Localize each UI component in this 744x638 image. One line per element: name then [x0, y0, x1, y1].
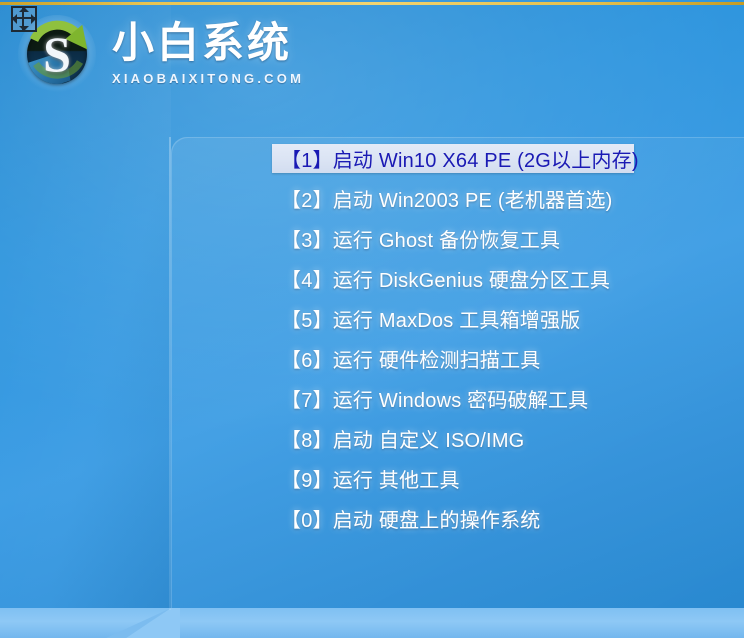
- menu-item-label: 启动 硬盘上的操作系统: [333, 504, 541, 533]
- menu-item-label: 启动 Win10 X64 PE (2G以上内存): [333, 144, 639, 173]
- move-cursor-arrow-down: [19, 26, 29, 31]
- menu-item-key: 【2】: [281, 184, 333, 213]
- menu-item-other-tools[interactable]: 【9】运行 其他工具: [272, 464, 634, 493]
- menu-item-key: 【3】: [281, 224, 333, 253]
- brand-subtitle: XIAOBAIXITONG.COM: [112, 71, 304, 86]
- top-accent-rule: [0, 2, 744, 5]
- menu-item-hardware-scan[interactable]: 【6】运行 硬件检测扫描工具: [272, 344, 634, 373]
- menu-item-label: 运行 MaxDos 工具箱增强版: [333, 304, 581, 333]
- menu-item-label: 启动 自定义 ISO/IMG: [333, 424, 525, 453]
- menu-item-key: 【6】: [281, 344, 333, 373]
- brand-title: 小白系统: [112, 22, 304, 64]
- boot-menu-list[interactable]: 【1】启动 Win10 X64 PE (2G以上内存)【2】启动 Win2003…: [272, 144, 634, 544]
- brand-logo: S 小白系统 XIAOBAIXITONG.COM: [12, 8, 332, 100]
- boot-menu-screen: S 小白系统 XIAOBAIXITONG.COM 【1】启动 Win10 X64…: [0, 0, 744, 638]
- menu-item-win10-x64-pe[interactable]: 【1】启动 Win10 X64 PE (2G以上内存): [272, 144, 634, 173]
- menu-item-label: 启动 Win2003 PE (老机器首选): [333, 184, 613, 213]
- menu-item-label: 运行 Ghost 备份恢复工具: [333, 224, 560, 253]
- menu-item-key: 【0】: [281, 504, 333, 533]
- menu-item-key: 【7】: [281, 384, 333, 413]
- menu-item-diskgenius[interactable]: 【4】运行 DiskGenius 硬盘分区工具: [272, 264, 634, 293]
- floor-wedge: [0, 600, 180, 638]
- menu-item-label: 运行 其他工具: [333, 464, 460, 493]
- menu-item-key: 【5】: [281, 304, 333, 333]
- menu-item-ghost[interactable]: 【3】运行 Ghost 备份恢复工具: [272, 224, 634, 253]
- menu-item-win2003-pe[interactable]: 【2】启动 Win2003 PE (老机器首选): [272, 184, 634, 213]
- menu-item-custom-iso-img[interactable]: 【8】启动 自定义 ISO/IMG: [272, 424, 634, 453]
- menu-item-key: 【9】: [281, 464, 333, 493]
- panel-seam: [169, 137, 171, 610]
- menu-item-password-crack[interactable]: 【7】运行 Windows 密码破解工具: [272, 384, 634, 413]
- move-cursor-arrow-left: [12, 14, 17, 24]
- menu-item-key: 【8】: [281, 424, 333, 453]
- menu-item-label: 运行 DiskGenius 硬盘分区工具: [333, 264, 610, 293]
- menu-item-key: 【4】: [281, 264, 333, 293]
- move-cursor-icon: [11, 6, 37, 32]
- menu-item-label: 运行 硬件检测扫描工具: [333, 344, 541, 373]
- menu-item-boot-hdd-os[interactable]: 【0】启动 硬盘上的操作系统: [272, 504, 634, 533]
- menu-item-key: 【1】: [281, 144, 333, 173]
- menu-item-maxdos[interactable]: 【5】运行 MaxDos 工具箱增强版: [272, 304, 634, 333]
- move-cursor-arrow-right: [31, 14, 36, 24]
- brand-text: 小白系统 XIAOBAIXITONG.COM: [112, 22, 304, 86]
- menu-item-label: 运行 Windows 密码破解工具: [333, 384, 589, 413]
- move-cursor-arrow-up: [19, 7, 29, 12]
